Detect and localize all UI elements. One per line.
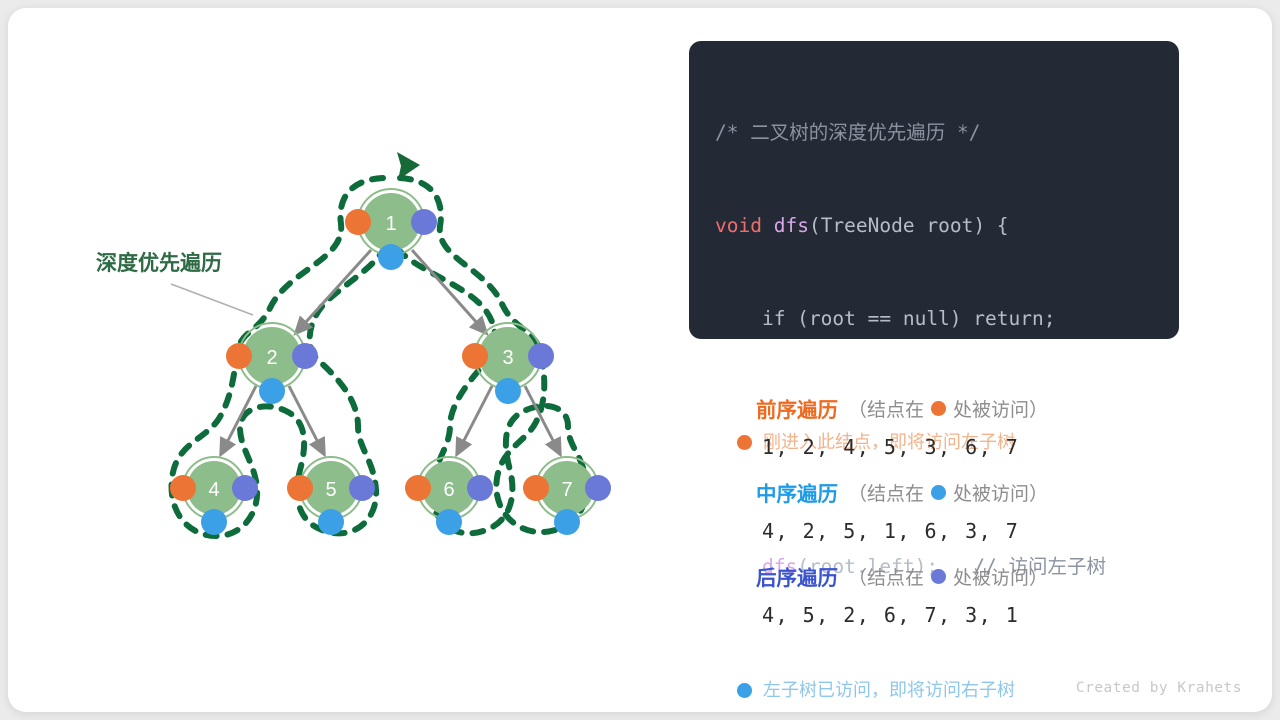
- purple-dot-icon: [585, 475, 611, 501]
- tree-node[interactable]: 6: [405, 457, 493, 535]
- tree-diagram: 1 2 3: [8, 8, 696, 712]
- orange-dot-icon: [226, 343, 252, 369]
- inorder-paren-open: （结点在: [848, 479, 924, 506]
- purple-dot-icon: [292, 343, 318, 369]
- node-label: 6: [443, 479, 454, 501]
- node-label: 7: [561, 479, 572, 501]
- code-block: /* 二叉树的深度优先遍历 */ void dfs(TreeNode root)…: [689, 41, 1179, 339]
- tree-node[interactable]: 1: [345, 189, 437, 270]
- edge-1-3: [412, 250, 486, 333]
- inorder-heading: 中序遍历 （结点在 处被访问）: [756, 476, 1176, 508]
- node-label: 1: [385, 213, 396, 235]
- start-marker-icon: [397, 152, 420, 180]
- node-label: 3: [502, 347, 513, 369]
- orange-dot-icon: [405, 475, 431, 501]
- node-label: 4: [208, 479, 219, 501]
- node-label: 2: [266, 347, 277, 369]
- orange-dot-icon: [170, 475, 196, 501]
- orange-dot-icon: [462, 343, 488, 369]
- code-comment-line: /* 二叉树的深度优先遍历 */: [715, 117, 1157, 148]
- purple-dot-icon: [411, 209, 437, 235]
- preorder-paren-close: 处被访问）: [953, 395, 1048, 422]
- tree-node[interactable]: 3: [462, 323, 554, 404]
- blue-dot-icon: [259, 378, 285, 404]
- credit-footer: Created by Krahets: [1076, 680, 1242, 696]
- purple-dot-icon: [349, 475, 375, 501]
- postorder-paren-open: （结点在: [848, 563, 924, 590]
- orange-dot-icon: [523, 475, 549, 501]
- blue-dot-icon: [495, 378, 521, 404]
- purple-dot-icon: [528, 343, 554, 369]
- blue-dot-icon: [378, 244, 404, 270]
- postorder-title: 后序遍历: [756, 561, 838, 591]
- tree-node[interactable]: 7: [523, 457, 611, 535]
- edge-3-7: [525, 386, 560, 454]
- postorder-sequence: 4, 5, 2, 6, 7, 3, 1: [756, 592, 1176, 638]
- blue-dot-icon: [554, 509, 580, 535]
- orange-dot-icon: [737, 435, 752, 450]
- result-group-postorder: 后序遍历 （结点在 处被访问） 4, 5, 2, 6, 7, 3, 1: [756, 560, 1176, 638]
- inorder-title: 中序遍历: [756, 477, 838, 507]
- orange-dot-icon: [345, 209, 371, 235]
- postorder-paren-close: 处被访问）: [953, 563, 1048, 590]
- purple-dot-icon: [467, 475, 493, 501]
- postorder-heading: 后序遍历 （结点在 处被访问）: [756, 560, 1176, 592]
- purple-dot-icon: [931, 569, 946, 584]
- inorder-sequence: 4, 2, 5, 1, 6, 3, 7: [756, 508, 1176, 554]
- content-card: 1 2 3: [8, 8, 1272, 712]
- blue-dot-icon: [201, 509, 227, 535]
- result-group-inorder: 中序遍历 （结点在 处被访问） 4, 2, 5, 1, 6, 3, 7: [756, 476, 1176, 554]
- blue-dot-icon: [436, 509, 462, 535]
- preorder-sequence: 1, 2, 4, 5, 3, 6, 7: [756, 424, 1176, 470]
- blue-dot-icon: [737, 683, 752, 698]
- preorder-title: 前序遍历: [756, 393, 838, 423]
- orange-dot-icon: [287, 475, 313, 501]
- inorder-paren-close: 处被访问）: [953, 479, 1048, 506]
- tree-node[interactable]: 2: [226, 323, 318, 404]
- node-label: 5: [325, 479, 336, 501]
- dfs-annotation-label: 深度优先遍历: [96, 251, 222, 275]
- blue-dot-icon: [318, 509, 344, 535]
- code-nullcheck-line: if (root == null) return;: [715, 303, 1157, 334]
- preorder-paren-open: （结点在: [848, 395, 924, 422]
- orange-dot-icon: [931, 401, 946, 416]
- screenshot-canvas: 1 2 3: [0, 0, 1280, 720]
- result-group-preorder: 前序遍历 （结点在 处被访问） 1, 2, 4, 5, 3, 6, 7: [756, 392, 1176, 470]
- traversal-results: 前序遍历 （结点在 处被访问） 1, 2, 4, 5, 3, 6, 7 中序遍历…: [756, 392, 1176, 644]
- preorder-heading: 前序遍历 （结点在 处被访问）: [756, 392, 1176, 424]
- edge-1-2: [296, 250, 371, 333]
- blue-dot-icon: [931, 485, 946, 500]
- annotation-leader-line: [171, 284, 253, 315]
- code-signature-line: void dfs(TreeNode root) {: [715, 210, 1157, 241]
- purple-dot-icon: [232, 475, 258, 501]
